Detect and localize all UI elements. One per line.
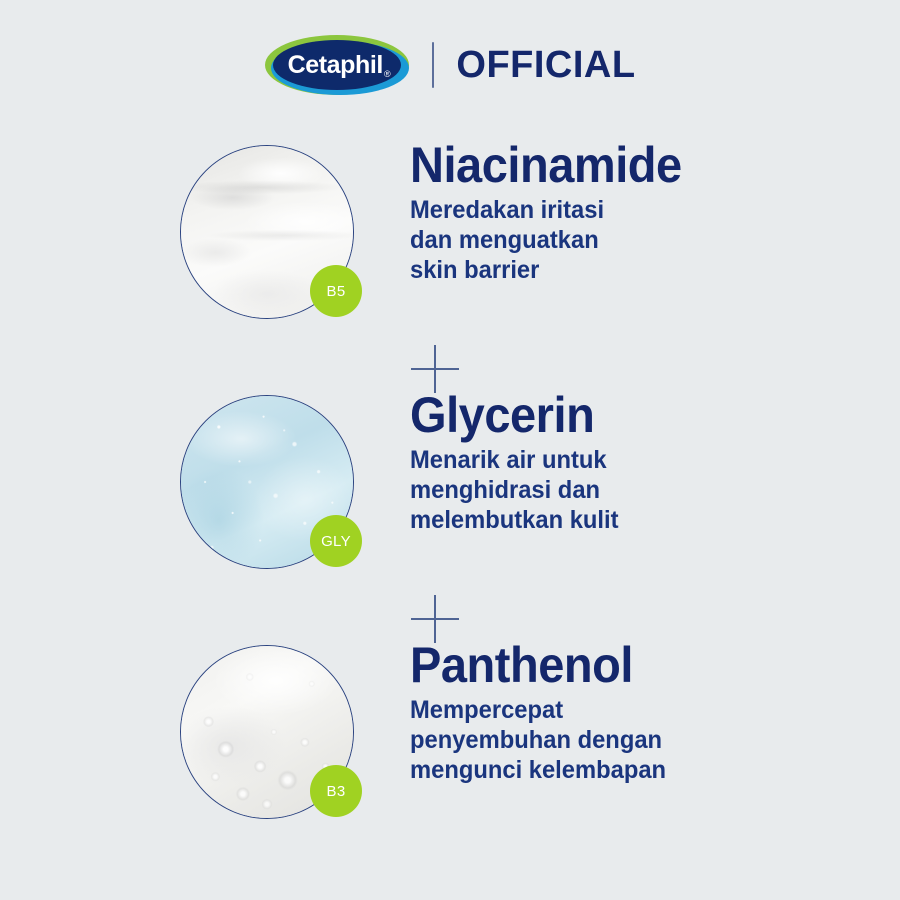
ingredient-badge-panthenol: B3 [310,765,362,817]
cetaphil-wordmark: Cetaphil® [264,34,410,96]
registered-mark: ® [384,69,390,79]
brand-name-text: Cetaphil [288,51,383,80]
brand-header: Cetaphil® OFFICIAL [0,30,900,100]
ingredient-row-panthenol: B3 Panthenol Mempercepat penyembuhan den… [0,640,900,890]
swatch-wrap-niacinamide: B5 [180,145,360,325]
ingredient-badge-niacinamide: B5 [310,265,362,317]
ingredient-description-panthenol: Mempercepat penyembuhan dengan mengunci … [410,695,809,785]
ingredient-badge-glycerin: GLY [310,515,362,567]
cetaphil-logo: Cetaphil® [264,34,410,96]
ingredient-description-niacinamide: Meredakan iritasi dan menguatkan skin ba… [410,195,809,285]
ingredient-description-glycerin: Menarik air untuk menghidrasi dan melemb… [410,445,809,535]
vertical-divider [432,42,434,88]
plus-icon [411,345,459,393]
ingredients-list: B5 Niacinamide Meredakan iritasi dan men… [0,140,900,890]
ingredient-title-panthenol: Panthenol [410,640,805,691]
ingredient-title-niacinamide: Niacinamide [410,140,805,191]
official-label: OFFICIAL [456,46,635,84]
swatch-wrap-glycerin: GLY [180,395,360,575]
ingredient-title-glycerin: Glycerin [410,390,805,441]
plus-icon [411,595,459,643]
ingredient-infographic-page: Cetaphil® OFFICIAL B5 Niacinamide Mereda… [0,0,900,900]
ingredient-copy-glycerin: Glycerin Menarik air untuk menghidrasi d… [410,390,830,535]
ingredient-copy-niacinamide: Niacinamide Meredakan iritasi dan mengua… [410,140,830,285]
ingredient-copy-panthenol: Panthenol Mempercepat penyembuhan dengan… [410,640,830,785]
swatch-wrap-panthenol: B3 [180,645,360,825]
